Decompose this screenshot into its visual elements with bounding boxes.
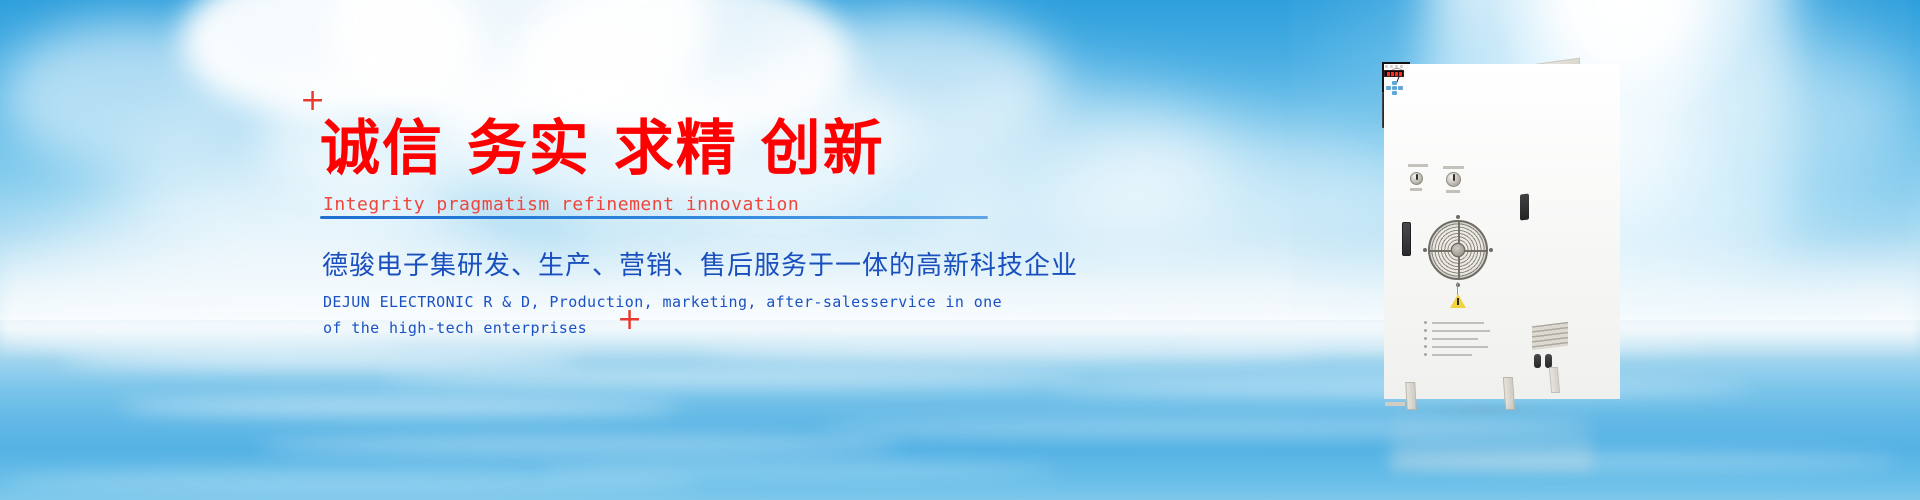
- description-english-line1: DEJUN ELECTRONIC R & D, Production, mark…: [323, 293, 1002, 311]
- wave: [260, 436, 900, 456]
- fan-hub: [1451, 243, 1465, 257]
- keypad-buttons: [1386, 81, 1404, 94]
- headline-chinese: 诚信 务实 求精 创新: [320, 118, 885, 181]
- divider-rule: [320, 216, 988, 219]
- product-machine: 新型电磁加热设备: [1382, 62, 1622, 407]
- promo-banner: + + 诚信 务实 求精 创新 Integrity pragmatism ref…: [0, 0, 1920, 500]
- spec-label-plate: [1422, 320, 1496, 364]
- headline-english: Integrity pragmatism refinement innovati…: [323, 194, 799, 215]
- fan-screw: [1489, 248, 1493, 252]
- instrument-caption: [1410, 188, 1422, 191]
- wave: [60, 352, 580, 368]
- instrument-caption: [1443, 166, 1464, 169]
- wave: [120, 398, 680, 416]
- description-chinese: 德骏电子集研发、生产、营销、售后服务于一体的高新科技企业: [322, 245, 1078, 282]
- warning-triangle-icon: [1450, 294, 1466, 308]
- wave: [540, 464, 1060, 478]
- keypad-led-display: [1384, 70, 1404, 77]
- power-knob: [1446, 172, 1461, 187]
- machine-ground-shadow: [1402, 406, 1562, 414]
- door-handle: [1402, 222, 1411, 256]
- description-english-line2: of the high-tech enterprises: [323, 315, 1002, 341]
- status-leds: [1385, 65, 1405, 68]
- lower-vent-louvres: [1532, 322, 1568, 350]
- gauge-dial: [1384, 64, 1620, 399]
- cloud: [0, 20, 260, 170]
- cloud: [1600, 40, 1920, 180]
- selector-knob: [1410, 172, 1423, 185]
- fan-screw: [1423, 248, 1427, 252]
- instrument-caption: [1446, 190, 1460, 193]
- wave: [380, 372, 1080, 386]
- description-english: DEJUN ELECTRONIC R & D, Production, mark…: [323, 289, 1002, 341]
- side-latch: [1520, 193, 1529, 220]
- fan-screw: [1456, 215, 1460, 219]
- instrument-caption: [1408, 164, 1428, 167]
- plus-mark-icon: +: [300, 86, 325, 116]
